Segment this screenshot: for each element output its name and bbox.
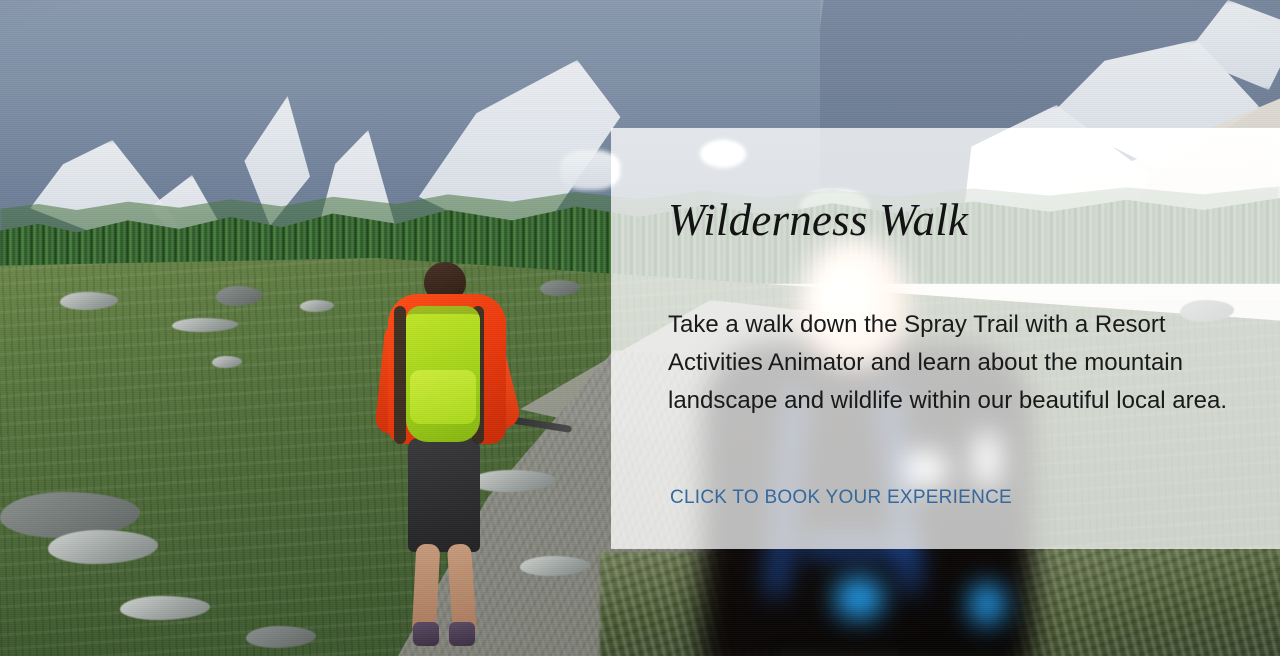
page-title: Wilderness Walk (668, 198, 968, 243)
content-overlay-inner: Wilderness Walk Take a walk down the Spr… (668, 128, 1238, 549)
hiker-boot (449, 622, 475, 646)
description-text: Take a walk down the Spray Trail with a … (668, 306, 1228, 420)
hero-banner: Wilderness Walk Take a walk down the Spr… (0, 0, 1280, 656)
content-overlay-panel: Wilderness Walk Take a walk down the Spr… (611, 128, 1280, 549)
hiker-figure (378, 262, 510, 652)
backpack-strap (394, 306, 406, 444)
hiker-shorts (408, 438, 480, 552)
book-experience-link[interactable]: CLICK TO BOOK YOUR EXPERIENCE (670, 486, 1012, 510)
green-backpack (406, 306, 480, 442)
foreground-blue-accent (970, 584, 1004, 624)
foreground-blue-accent (836, 578, 882, 618)
hiker-boot (413, 622, 439, 646)
